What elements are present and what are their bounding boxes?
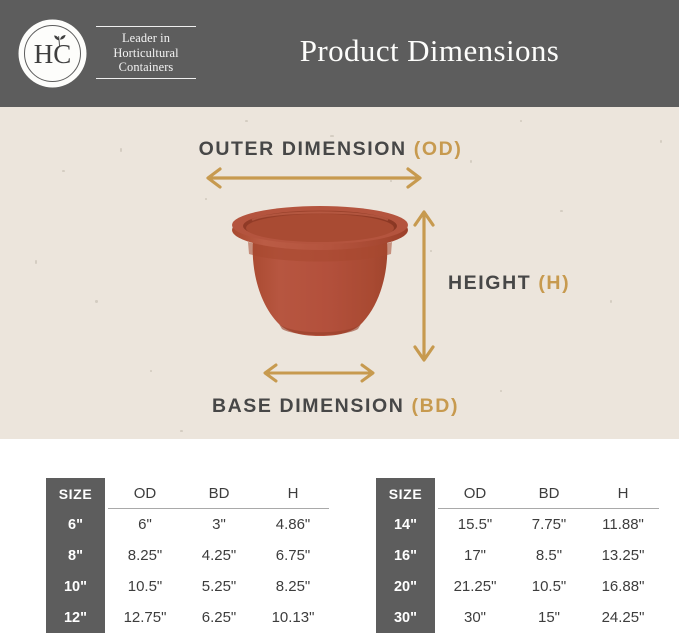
column-header-od: OD: [438, 478, 512, 509]
table-row: 6" 6" 3" 4.86": [46, 509, 329, 540]
table-row: 14" 15.5" 7.75" 11.88": [376, 509, 659, 540]
plant-pot-illustration: [222, 196, 418, 368]
cell-size: 10": [46, 571, 105, 602]
table-row: 20" 21.25" 10.5" 16.88": [376, 571, 659, 602]
cell-od: 6": [108, 509, 182, 540]
table-row: 10" 10.5" 5.25" 8.25": [46, 571, 329, 602]
od-horizontal-arrow: [200, 166, 428, 190]
table-row: 8" 8.25" 4.25" 6.75": [46, 540, 329, 571]
cell-od: 21.25": [438, 571, 512, 602]
cell-bd: 5.25": [182, 571, 256, 602]
table-row: 30" 30" 15" 24.25": [376, 602, 659, 633]
column-header-bd: BD: [512, 478, 586, 509]
cell-od: 8.25": [108, 540, 182, 571]
table-row: 12" 12.75" 6.25" 10.13": [46, 602, 329, 633]
column-header-size: SIZE: [46, 478, 105, 509]
cell-od: 30": [438, 602, 512, 633]
page-title: Product Dimensions: [0, 33, 679, 69]
cell-h: 8.25": [256, 571, 330, 602]
height-label: HEIGHT (H): [448, 272, 570, 295]
cell-od: 10.5": [108, 571, 182, 602]
cell-h: 24.25": [586, 602, 660, 633]
height-text: HEIGHT: [448, 272, 531, 294]
dimension-table-left: SIZE OD BD H 6" 6" 3" 4.86" 8" 8.25" 4.2…: [46, 478, 329, 633]
cell-size: 12": [46, 602, 105, 633]
cell-od: 12.75": [108, 602, 182, 633]
dimension-table-right: SIZE OD BD H 14" 15.5" 7.75" 11.88" 16" …: [376, 478, 659, 633]
header-bar: HC Leader in Horticultural Containers Pr…: [0, 0, 679, 107]
outer-dimension-label: OUTER DIMENSION (OD): [0, 138, 679, 161]
cell-h: 6.75": [256, 540, 330, 571]
outer-dimension-code: (OD): [414, 138, 463, 160]
cell-bd: 3": [182, 509, 256, 540]
column-header-h: H: [586, 478, 660, 509]
cell-od: 15.5": [438, 509, 512, 540]
cell-bd: 8.5": [512, 540, 586, 571]
base-dimension-label: BASE DIMENSION (BD): [0, 395, 679, 418]
cell-h: 13.25": [586, 540, 660, 571]
column-header-od: OD: [108, 478, 182, 509]
cell-h: 10.13": [256, 602, 330, 633]
base-dimension-text: BASE DIMENSION: [212, 395, 405, 417]
cell-bd: 15": [512, 602, 586, 633]
base-dimension-code: (BD): [411, 395, 459, 417]
column-header-size: SIZE: [376, 478, 435, 509]
dimension-tables: SIZE OD BD H 6" 6" 3" 4.86" 8" 8.25" 4.2…: [0, 478, 679, 628]
product-dimensions-infographic: HC Leader in Horticultural Containers Pr…: [0, 0, 679, 636]
cell-size: 14": [376, 509, 435, 540]
cell-h: 16.88": [586, 571, 660, 602]
cell-size: 16": [376, 540, 435, 571]
cell-bd: 7.75": [512, 509, 586, 540]
cell-size: 8": [46, 540, 105, 571]
height-code: (H): [538, 272, 570, 294]
cell-bd: 6.25": [182, 602, 256, 633]
table-header-row: SIZE OD BD H: [46, 478, 329, 509]
cell-h: 4.86": [256, 509, 330, 540]
outer-dimension-text: OUTER DIMENSION: [199, 138, 407, 160]
cell-bd: 4.25": [182, 540, 256, 571]
cell-size: 20": [376, 571, 435, 602]
cell-size: 30": [376, 602, 435, 633]
column-header-h: H: [256, 478, 330, 509]
cell-bd: 10.5": [512, 571, 586, 602]
cell-od: 17": [438, 540, 512, 571]
bd-horizontal-arrow: [258, 362, 380, 384]
table-header-row: SIZE OD BD H: [376, 478, 659, 509]
cell-size: 6": [46, 509, 105, 540]
tagline-rule-bottom: [96, 78, 196, 79]
cell-h: 11.88": [586, 509, 660, 540]
table-row: 16" 17" 8.5" 13.25": [376, 540, 659, 571]
column-header-bd: BD: [182, 478, 256, 509]
